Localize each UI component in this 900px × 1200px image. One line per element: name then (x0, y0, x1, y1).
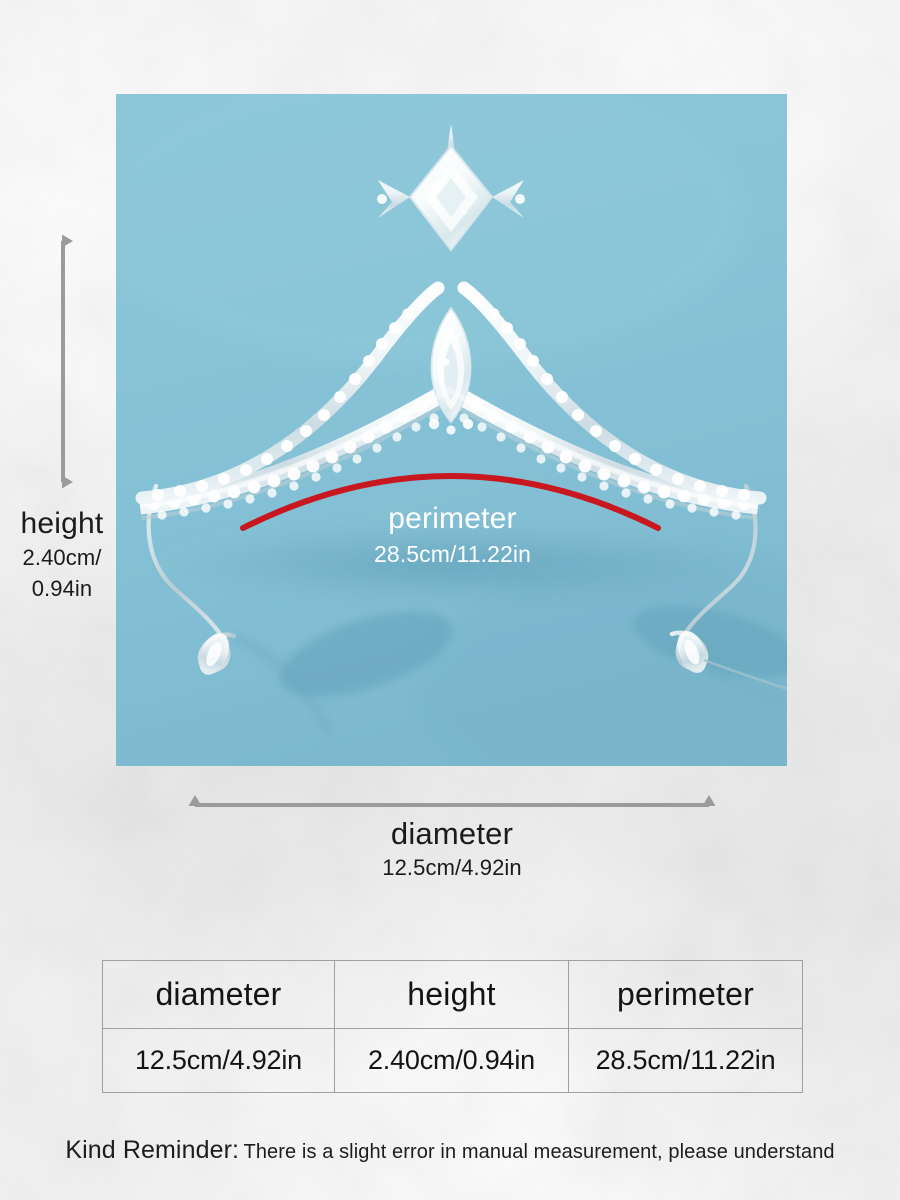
height-label: height 2.40cm/ 0.94in (0, 506, 124, 604)
perimeter-label-value: 28.5cm/11.22in (250, 538, 655, 570)
perimeter-label: perimeter 28.5cm/11.22in (250, 500, 655, 570)
table-header-perimeter: perimeter (569, 961, 803, 1029)
reminder-strong: Kind Reminder: (65, 1136, 239, 1164)
height-label-title: height (0, 506, 124, 542)
diameter-label-title: diameter (252, 816, 652, 852)
height-label-value-line1: 2.40cm/ (0, 542, 124, 573)
table-value-diameter: 12.5cm/4.92in (103, 1029, 335, 1093)
tiara-illustration (116, 94, 787, 766)
table-value-height: 2.40cm/0.94in (335, 1029, 569, 1093)
table-header-row: diameter height perimeter (103, 961, 803, 1029)
table-value-perimeter: 28.5cm/11.22in (569, 1029, 803, 1093)
kind-reminder: Kind Reminder: There is a slight error i… (0, 1136, 900, 1165)
diameter-label-value: 12.5cm/4.92in (252, 852, 652, 883)
reminder-text: There is a slight error in manual measur… (244, 1141, 835, 1163)
diameter-label: diameter 12.5cm/4.92in (252, 816, 652, 883)
height-label-value-line2: 0.94in (0, 573, 124, 604)
product-photo (116, 94, 787, 766)
table-header-diameter: diameter (103, 961, 335, 1029)
specification-table: diameter height perimeter 12.5cm/4.92in … (102, 960, 803, 1093)
table-header-height: height (335, 961, 569, 1029)
perimeter-label-title: perimeter (250, 500, 655, 538)
table-value-row: 12.5cm/4.92in 2.40cm/0.94in 28.5cm/11.22… (103, 1029, 803, 1093)
